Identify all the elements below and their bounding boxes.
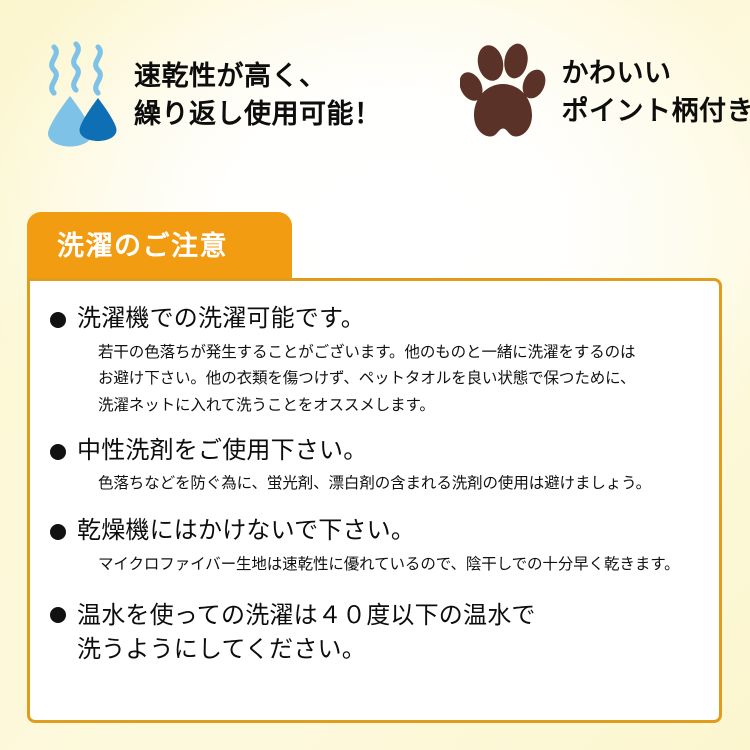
bullet-dot-icon [50, 524, 66, 540]
care-item-description: 色落ちなどを防ぐ為に、蛍光剤、漂白剤の含まれる洗剤の使用は避けましょう。 [98, 471, 697, 498]
care-item-heading: 温水を使っての洗濯は４０度以下の温水で 洗うようにしてください。 [50, 599, 697, 666]
care-desc-line: マイクロファイバー生地は速乾性に優れているので、陰干しでの十分早く乾きます。 [98, 552, 697, 579]
care-heading-line: 洗うようにしてください。 [77, 633, 536, 667]
care-item: 温水を使っての洗濯は４０度以下の温水で 洗うようにしてください。 [50, 599, 697, 666]
paw-print-icon [460, 38, 546, 147]
feature-highlights-row: 速乾性が高く、 繰り返し使用可能！ かわいい ポイント柄付き！ [0, 38, 750, 178]
care-instructions-page: 速乾性が高く、 繰り返し使用可能！ かわいい ポイント柄付き！ [0, 0, 750, 750]
feature-paw-design-text: かわいい ポイント柄付き！ [562, 55, 750, 130]
water-drops-steam-icon [42, 38, 120, 153]
feature-paw-design: かわいい ポイント柄付き！ [460, 38, 750, 147]
washing-care-title: 洗濯のご注意 [57, 233, 228, 260]
feature-paw-design-line-2: ポイント柄付き！ [562, 93, 750, 130]
care-heading-line: 乾燥機にはかけないで下さい。 [77, 516, 415, 547]
care-item-heading: 中性洗剤をご使用下さい。 [50, 436, 697, 467]
care-item: 乾燥機にはかけないで下さい。 マイクロファイバー生地は速乾性に優れているので、陰… [50, 516, 697, 578]
care-item-heading: 乾燥機にはかけないで下さい。 [50, 516, 697, 547]
washing-care-list: 洗濯機での洗濯可能です。 若干の色落ちが発生することがございます。他のものと一緒… [30, 281, 719, 667]
feature-quick-dry-line-1: 速乾性が高く、 [134, 58, 382, 95]
care-item: 中性洗剤をご使用下さい。 色落ちなどを防ぐ為に、蛍光剤、漂白剤の含まれる洗剤の使… [50, 436, 697, 498]
care-desc-line: 若干の色落ちが発生することがございます。他のものと一緒に洗濯をするのは [98, 340, 697, 367]
feature-quick-dry: 速乾性が高く、 繰り返し使用可能！ [42, 38, 382, 153]
feature-quick-dry-text: 速乾性が高く、 繰り返し使用可能！ [134, 58, 382, 133]
bullet-dot-icon [50, 444, 66, 460]
washing-care-body: 洗濯機での洗濯可能です。 若干の色落ちが発生することがございます。他のものと一緒… [27, 278, 722, 723]
bullet-dot-icon [50, 312, 66, 328]
bullet-dot-icon [50, 607, 66, 623]
washing-care-box: 洗濯のご注意 洗濯機での洗濯可能です。 若干の色落ちが発生することがございます。… [27, 212, 722, 723]
care-item-heading: 洗濯機での洗濯可能です。 [50, 304, 697, 335]
feature-quick-dry-line-2: 繰り返し使用可能！ [134, 96, 382, 133]
care-heading-line: 温水を使っての洗濯は４０度以下の温水で [77, 599, 536, 633]
washing-care-tab: 洗濯のご注意 [27, 212, 292, 280]
care-heading-line: 洗濯機での洗濯可能です。 [77, 304, 365, 335]
feature-paw-design-line-1: かわいい [562, 55, 750, 92]
care-heading-line: 中性洗剤をご使用下さい。 [77, 436, 367, 467]
care-item-description: 若干の色落ちが発生することがございます。他のものと一緒に洗濯をするのは お避け下… [98, 340, 697, 420]
care-desc-line: お避け下さい。他の衣類を傷つけず、ペットタオルを良い状態で保つために、 [98, 366, 697, 393]
care-item: 洗濯機での洗濯可能です。 若干の色落ちが発生することがございます。他のものと一緒… [50, 304, 697, 420]
care-desc-line: 洗濯ネットに入れて洗うことをオススメします。 [98, 393, 697, 420]
care-desc-line: 色落ちなどを防ぐ為に、蛍光剤、漂白剤の含まれる洗剤の使用は避けましょう。 [98, 471, 697, 498]
care-item-description: マイクロファイバー生地は速乾性に優れているので、陰干しでの十分早く乾きます。 [98, 552, 697, 579]
